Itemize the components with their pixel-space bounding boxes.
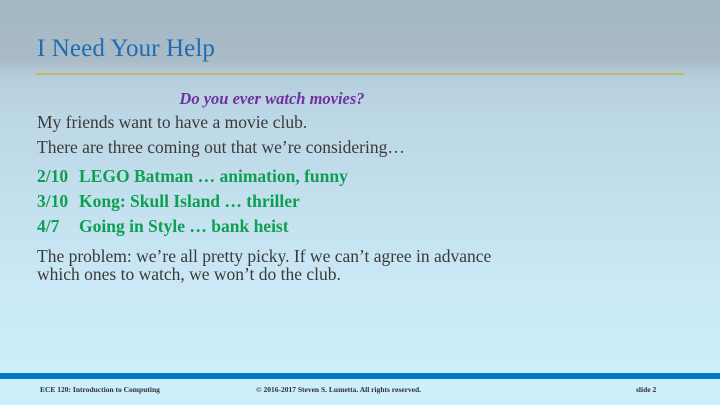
movie-title: Going in Style … bank heist (79, 214, 289, 239)
movie-date: 4/7 (37, 214, 79, 239)
intro-line-1: My friends want to have a movie club. (37, 112, 492, 132)
movie-date: 3/10 (37, 189, 79, 214)
movie-list-item: 2/10 LEGO Batman … animation, funny (37, 164, 687, 189)
footer-course-label: ECE 120: Introduction to Computing (40, 385, 160, 394)
footer-copyright-label: © 2016-2017 Steven S. Lumetta. All right… (256, 385, 421, 394)
closing-paragraph: The problem: we’re all pretty picky. If … (37, 247, 492, 283)
title-divider-rule (36, 73, 684, 75)
movie-title: LEGO Batman … animation, funny (79, 164, 348, 189)
slide-footer: ECE 120: Introduction to Computing © 201… (0, 385, 720, 399)
intro-line-2: There are three coming out that we’re co… (37, 138, 492, 156)
footer-slide-number: slide 2 (636, 385, 656, 394)
presentation-slide: I Need Your Help Do you ever watch movie… (0, 0, 720, 405)
slide-title: I Need Your Help (37, 34, 215, 64)
question-line: Do you ever watch movies? (37, 88, 507, 109)
movie-list-item: 4/7 Going in Style … bank heist (37, 214, 687, 239)
footer-accent-bar (0, 373, 720, 379)
movie-title: Kong: Skull Island … thriller (79, 189, 300, 214)
slide-body: Do you ever watch movies? My friends wan… (37, 88, 687, 289)
movie-date: 2/10 (37, 164, 79, 189)
movie-list-item: 3/10 Kong: Skull Island … thriller (37, 189, 687, 214)
